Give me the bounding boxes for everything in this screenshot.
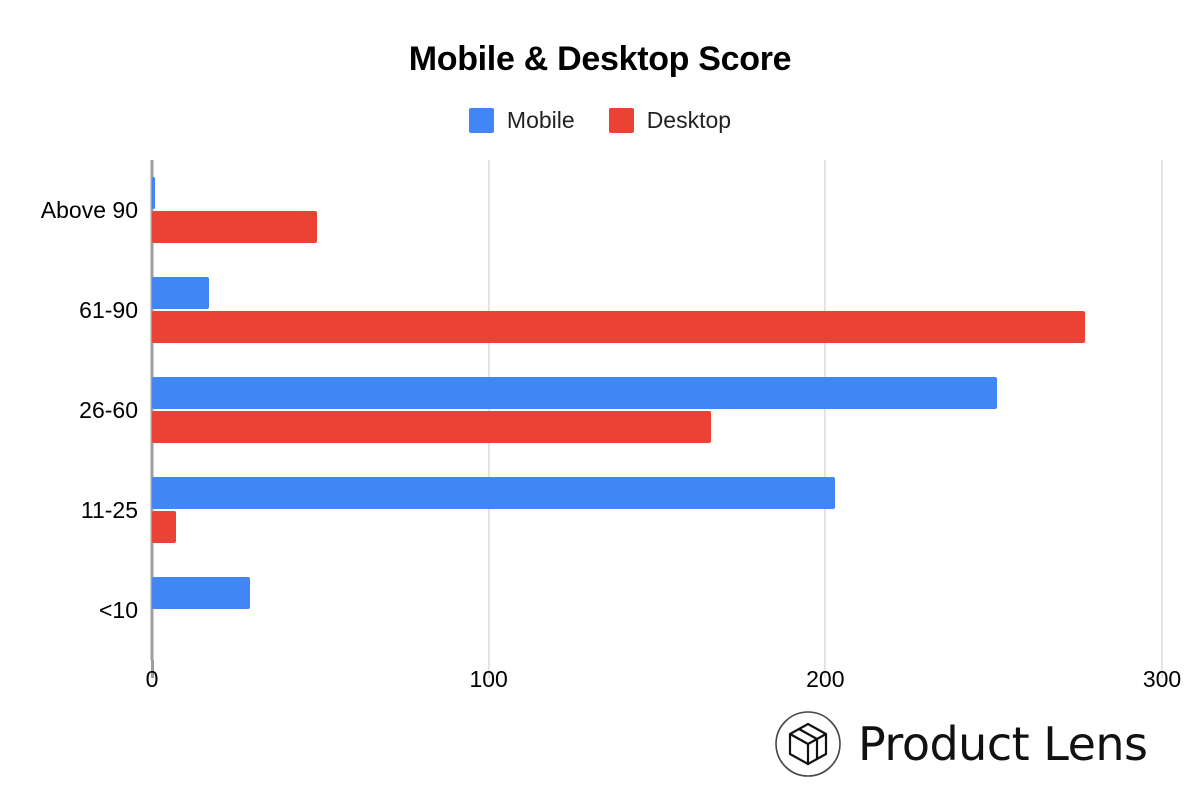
gridline-100 xyxy=(488,160,490,660)
chart-legend: Mobile Desktop xyxy=(0,108,1200,133)
legend-label-mobile: Mobile xyxy=(507,109,575,132)
bar-desktop[interactable] xyxy=(152,411,711,443)
legend-item-mobile[interactable]: Mobile xyxy=(469,108,575,133)
chart-title: Mobile & Desktop Score xyxy=(0,40,1200,79)
y-tick-label: 61-90 xyxy=(0,299,138,322)
x-tick-label-0: 0 xyxy=(92,668,212,691)
bar-mobile[interactable] xyxy=(152,577,250,609)
bar-desktop[interactable] xyxy=(152,311,1085,343)
legend-item-desktop[interactable]: Desktop xyxy=(609,108,731,133)
y-tick-label: <10 xyxy=(0,599,138,622)
x-tick-label-200: 200 xyxy=(765,668,885,691)
x-tick-label-100: 100 xyxy=(429,668,549,691)
box-in-circle-icon xyxy=(772,708,844,780)
chart-container: Mobile & Desktop Score Mobile Desktop Ab… xyxy=(0,0,1200,800)
y-tick-label: Above 90 xyxy=(0,199,138,222)
legend-swatch-desktop xyxy=(609,108,634,133)
bar-desktop[interactable] xyxy=(152,511,176,543)
bar-mobile[interactable] xyxy=(152,477,835,509)
brand-logo: Product Lens xyxy=(772,708,1148,780)
bar-desktop[interactable] xyxy=(152,211,317,243)
bar-mobile[interactable] xyxy=(152,377,997,409)
plot-area xyxy=(152,160,1162,660)
legend-swatch-mobile xyxy=(469,108,494,133)
y-tick-label: 11-25 xyxy=(0,499,138,522)
bar-mobile[interactable] xyxy=(152,277,209,309)
y-tick-label: 26-60 xyxy=(0,399,138,422)
gridline-300 xyxy=(1161,160,1163,660)
brand-name: Product Lens xyxy=(858,721,1148,767)
legend-label-desktop: Desktop xyxy=(647,109,731,132)
gridline-200 xyxy=(824,160,826,660)
bar-mobile[interactable] xyxy=(152,177,155,209)
x-tick-label-300: 300 xyxy=(1102,668,1200,691)
